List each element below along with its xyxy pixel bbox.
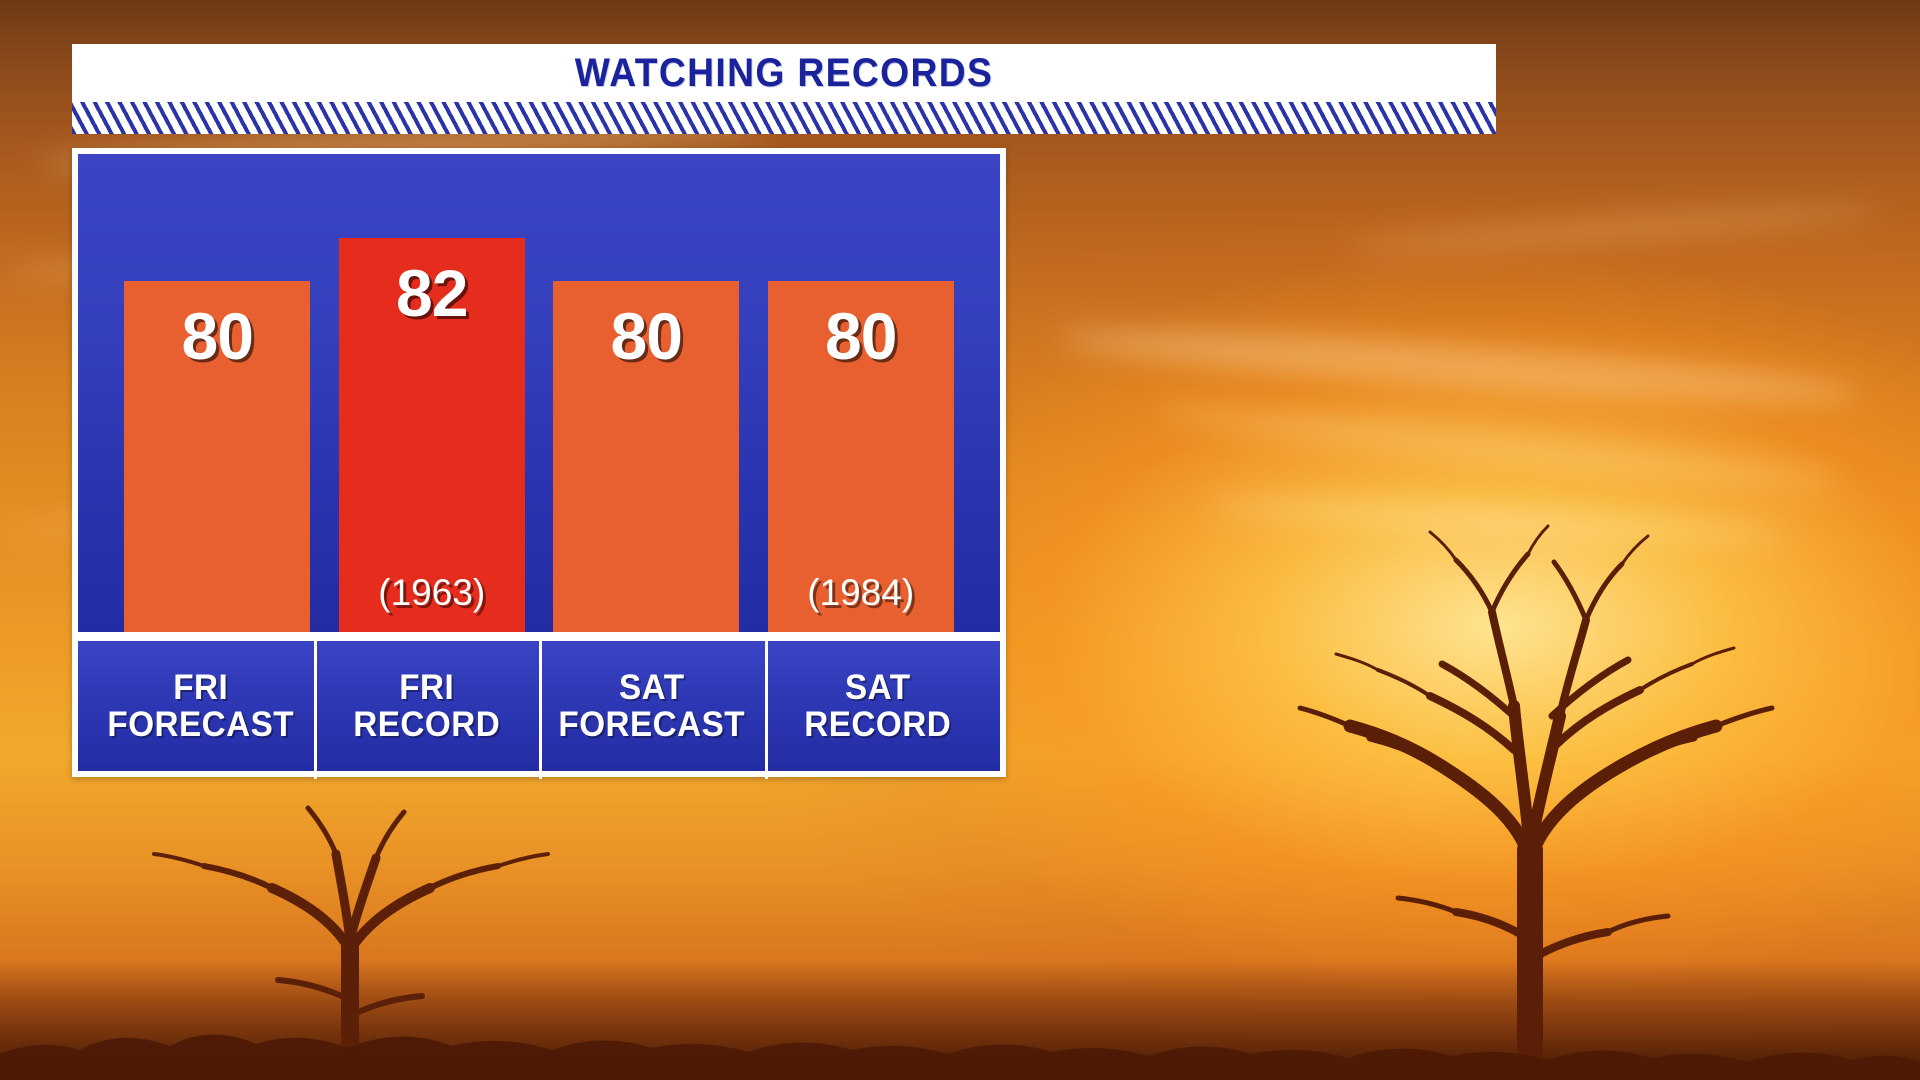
bar-slot: 80 (1984)	[754, 154, 969, 632]
category-label-line2: RECORD	[774, 706, 981, 743]
category-label-fri-record: FRI RECORD	[314, 669, 540, 744]
bar-sat-forecast: 80	[553, 281, 739, 632]
category-label-line1: FRI	[323, 669, 530, 706]
category-label-line1: SAT	[548, 669, 755, 706]
bar-slot: 80	[110, 154, 325, 632]
category-label-line2: RECORD	[323, 706, 530, 743]
horizon-ground	[0, 960, 1920, 1080]
striped-divider-band	[72, 102, 1496, 134]
category-label-line2: FORECAST	[97, 706, 304, 743]
bar-year: (1963)	[339, 572, 525, 614]
bar-year: (1984)	[768, 572, 954, 614]
bar-value: 80	[182, 303, 253, 369]
bar-chart: 80 82 (1963) 80 80 (1984)	[78, 154, 1000, 632]
bar-slot: 82 (1963)	[325, 154, 540, 632]
graphic-title-bar: WATCHING RECORDS	[72, 44, 1496, 102]
bar-slot: 80	[539, 154, 754, 632]
bar-fri-forecast: 80	[124, 281, 310, 632]
category-label-sat-forecast: SAT FORECAST	[539, 669, 765, 744]
bar-value: 80	[611, 303, 682, 369]
category-label-fri-forecast: FRI FORECAST	[88, 669, 314, 744]
bar-value: 82	[396, 260, 467, 326]
chart-panel: 80 82 (1963) 80 80 (1984)	[72, 148, 1006, 777]
bar-sat-record: 80 (1984)	[768, 281, 954, 632]
weather-graphic: WATCHING RECORDS 80 82 (1963) 80	[72, 44, 1496, 777]
category-label-sat-record: SAT RECORD	[765, 669, 991, 744]
category-label-line1: FRI	[97, 669, 304, 706]
page-title: WATCHING RECORDS	[575, 51, 993, 96]
bar-fri-record: 82 (1963)	[339, 238, 525, 632]
bar-value: 80	[825, 303, 896, 369]
category-label-line1: SAT	[774, 669, 981, 706]
category-label-row: FRI FORECAST FRI RECORD SAT FORECAST SAT…	[78, 641, 1000, 771]
category-label-line2: FORECAST	[548, 706, 755, 743]
